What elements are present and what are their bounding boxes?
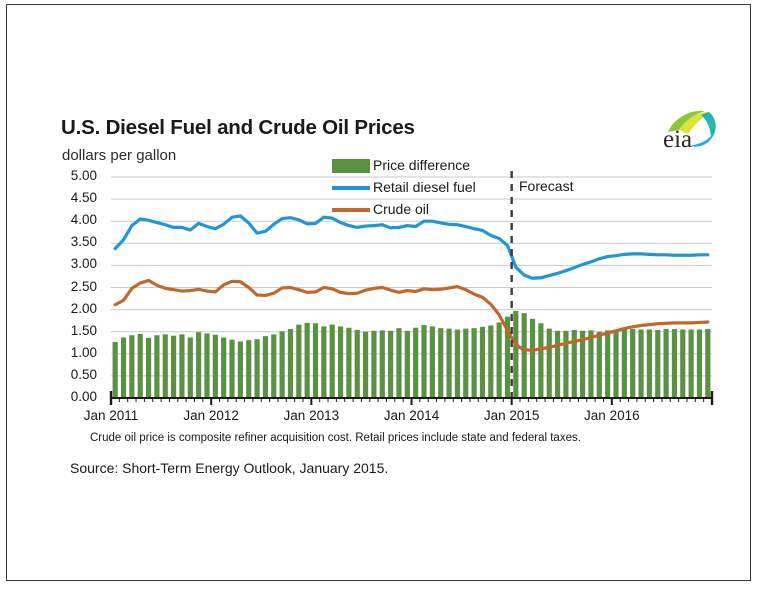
bar-price-difference xyxy=(171,336,176,398)
x-axis-tick-label: Jan 2013 xyxy=(261,408,361,423)
y-axis-tick-label: 4.50 xyxy=(51,190,97,205)
y-axis-tick-label: 1.50 xyxy=(51,323,97,338)
bar-price-difference xyxy=(163,334,168,398)
bar-price-difference xyxy=(555,331,560,398)
bar-price-difference xyxy=(396,328,401,398)
bar-price-difference xyxy=(330,325,335,398)
y-axis-tick-label: 3.00 xyxy=(51,256,97,271)
bar-price-difference xyxy=(121,337,126,398)
bar-price-difference xyxy=(664,329,669,398)
bar-price-difference xyxy=(588,330,593,398)
bar-price-difference xyxy=(430,326,435,398)
bar-price-difference xyxy=(313,323,318,398)
bar-price-difference xyxy=(697,329,702,398)
bar-price-difference xyxy=(638,329,643,398)
y-axis-tick-label: 3.50 xyxy=(51,234,97,249)
x-axis-tick-label: Jan 2016 xyxy=(562,408,662,423)
bar-price-difference xyxy=(204,333,209,398)
bar-price-difference xyxy=(238,341,243,398)
bar-price-difference xyxy=(179,334,184,398)
bar-price-difference xyxy=(154,335,159,398)
line-retail-diesel-fuel xyxy=(115,216,708,278)
chart-footnote: Crude oil price is composite refiner acq… xyxy=(90,432,581,444)
y-axis-tick-label: 5.00 xyxy=(51,168,97,183)
y-axis-tick-label: 0.00 xyxy=(51,389,97,404)
bar-price-difference xyxy=(513,311,518,398)
bar-price-difference xyxy=(613,330,618,398)
x-axis-tick-label: Jan 2015 xyxy=(462,408,562,423)
bar-price-difference xyxy=(446,329,451,398)
forecast-label: Forecast xyxy=(519,178,573,194)
figure-page: U.S. Diesel Fuel and Crude Oil Prices do… xyxy=(6,4,751,581)
page-title: U.S. Diesel Fuel and Crude Oil Prices xyxy=(61,116,415,140)
bar-price-difference xyxy=(538,323,543,398)
bar-price-difference xyxy=(196,332,201,398)
bar-price-difference xyxy=(338,326,343,398)
y-axis-tick-label: 1.00 xyxy=(51,345,97,360)
bar-price-difference xyxy=(630,329,635,398)
bar-price-difference xyxy=(229,340,234,398)
bar-price-difference xyxy=(371,331,376,398)
bar-price-difference xyxy=(254,339,259,398)
bar-price-difference xyxy=(263,336,268,398)
bar-price-difference xyxy=(597,332,602,398)
bar-price-difference xyxy=(655,330,660,398)
bar-price-difference xyxy=(622,329,627,398)
bar-price-difference xyxy=(563,331,568,398)
bar-price-difference xyxy=(188,337,193,398)
bar-price-difference xyxy=(480,327,485,398)
bar-price-difference xyxy=(705,329,710,398)
y-axis-tick-label: 0.50 xyxy=(51,367,97,382)
bar-price-difference xyxy=(463,329,468,398)
bar-price-difference xyxy=(113,342,118,398)
legend-label-retail-diesel-fuel: Retail diesel fuel xyxy=(373,179,476,195)
bar-price-difference xyxy=(689,329,694,398)
bar-price-difference xyxy=(146,338,151,398)
bar-price-difference xyxy=(488,326,493,398)
bar-price-difference xyxy=(472,328,477,398)
bar-price-difference xyxy=(672,329,677,398)
bar-price-difference xyxy=(547,329,552,398)
bar-price-difference xyxy=(280,331,285,398)
bar-price-difference xyxy=(647,329,652,398)
bar-price-difference xyxy=(413,328,418,398)
chart-svg xyxy=(7,5,750,580)
x-axis-tick-label: Jan 2014 xyxy=(362,408,462,423)
y-axis-tick-label: 4.00 xyxy=(51,212,97,227)
bar-price-difference xyxy=(405,331,410,398)
y-axis-tick-label: 2.00 xyxy=(51,301,97,316)
bar-price-difference xyxy=(129,335,134,398)
x-axis-tick-label: Jan 2012 xyxy=(161,408,261,423)
bar-price-difference xyxy=(355,330,360,398)
bar-price-difference xyxy=(455,329,460,398)
bar-price-difference xyxy=(321,326,326,398)
legend-swatch-price-difference xyxy=(332,159,370,173)
bar-price-difference xyxy=(605,330,610,398)
bar-price-difference xyxy=(497,322,502,398)
bar-price-difference xyxy=(305,323,310,398)
bar-price-difference xyxy=(346,328,351,398)
bar-price-difference xyxy=(388,331,393,398)
chart-source: Source: Short-Term Energy Outlook, Janua… xyxy=(70,460,388,476)
legend-label-price-difference: Price difference xyxy=(373,157,470,173)
legend-label-crude-oil: Crude oil xyxy=(373,201,429,217)
bar-price-difference xyxy=(530,319,535,398)
bar-price-difference xyxy=(213,335,218,398)
line-crude-oil xyxy=(115,280,708,350)
bar-price-difference xyxy=(522,313,527,398)
chart-subtitle: dollars per gallon xyxy=(62,147,176,164)
bar-price-difference xyxy=(296,325,301,398)
bar-price-difference xyxy=(246,340,251,398)
bar-price-difference xyxy=(288,329,293,398)
bar-price-difference xyxy=(380,330,385,398)
svg-text:eia: eia xyxy=(663,126,692,151)
y-axis-tick-label: 2.50 xyxy=(51,279,97,294)
x-axis-tick-label: Jan 2011 xyxy=(61,408,161,423)
bar-price-difference xyxy=(421,325,426,398)
bar-price-difference xyxy=(138,334,143,398)
bar-price-difference xyxy=(680,329,685,398)
bar-price-difference xyxy=(221,337,226,398)
bar-price-difference xyxy=(271,334,276,398)
bar-price-difference xyxy=(438,328,443,398)
bar-price-difference xyxy=(363,332,368,398)
eia-logo: eia xyxy=(659,105,719,151)
